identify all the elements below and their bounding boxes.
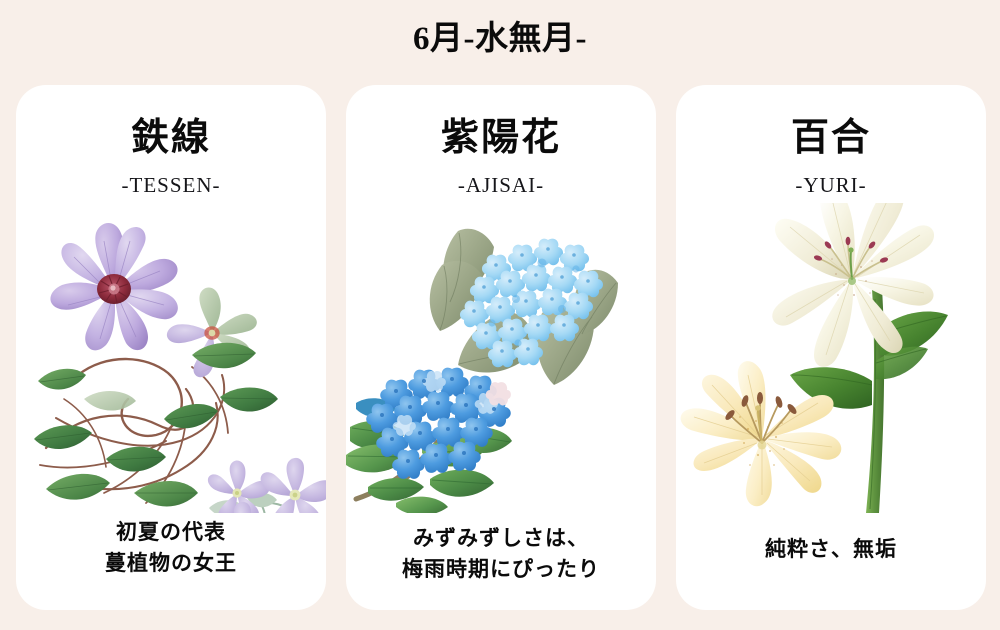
clematis-illustration — [16, 203, 326, 513]
card-romaji-name: -AJISAI- — [346, 175, 656, 196]
card-caption: 初夏の代表 蔓植物の女王 — [16, 517, 326, 578]
flower-card-yuri[interactable]: 百合 -YURI- — [676, 85, 986, 610]
card-grid: 鉄線 -TESSEN- — [16, 85, 984, 610]
caption-line: 蔓植物の女王 — [16, 548, 326, 578]
caption-line: 純粋さ、無垢 — [676, 534, 986, 564]
card-kanji-name: 紫陽花 — [346, 119, 656, 157]
card-caption: みずみずしさは、 梅雨時期にぴったり — [346, 523, 656, 584]
caption-line: 梅雨時期にぴったり — [346, 554, 656, 584]
caption-line: 初夏の代表 — [16, 517, 326, 547]
page-title: 6月-水無月- — [0, 20, 1000, 60]
card-kanji-name: 鉄線 — [16, 119, 326, 157]
card-caption: 純粋さ、無垢 — [676, 534, 986, 564]
flower-card-ajisai[interactable]: 紫陽花 -AJISAI- — [346, 85, 656, 610]
card-romaji-name: -TESSEN- — [16, 175, 326, 196]
caption-line: みずみずしさは、 — [346, 523, 656, 553]
lily-illustration — [676, 203, 986, 513]
card-romaji-name: -YURI- — [676, 175, 986, 196]
card-kanji-name: 百合 — [676, 119, 986, 157]
hydrangea-illustration — [346, 203, 656, 513]
page-root: 6月-水無月- 鉄線 -TESSEN- — [0, 0, 1000, 630]
flower-card-tessen[interactable]: 鉄線 -TESSEN- — [16, 85, 326, 610]
